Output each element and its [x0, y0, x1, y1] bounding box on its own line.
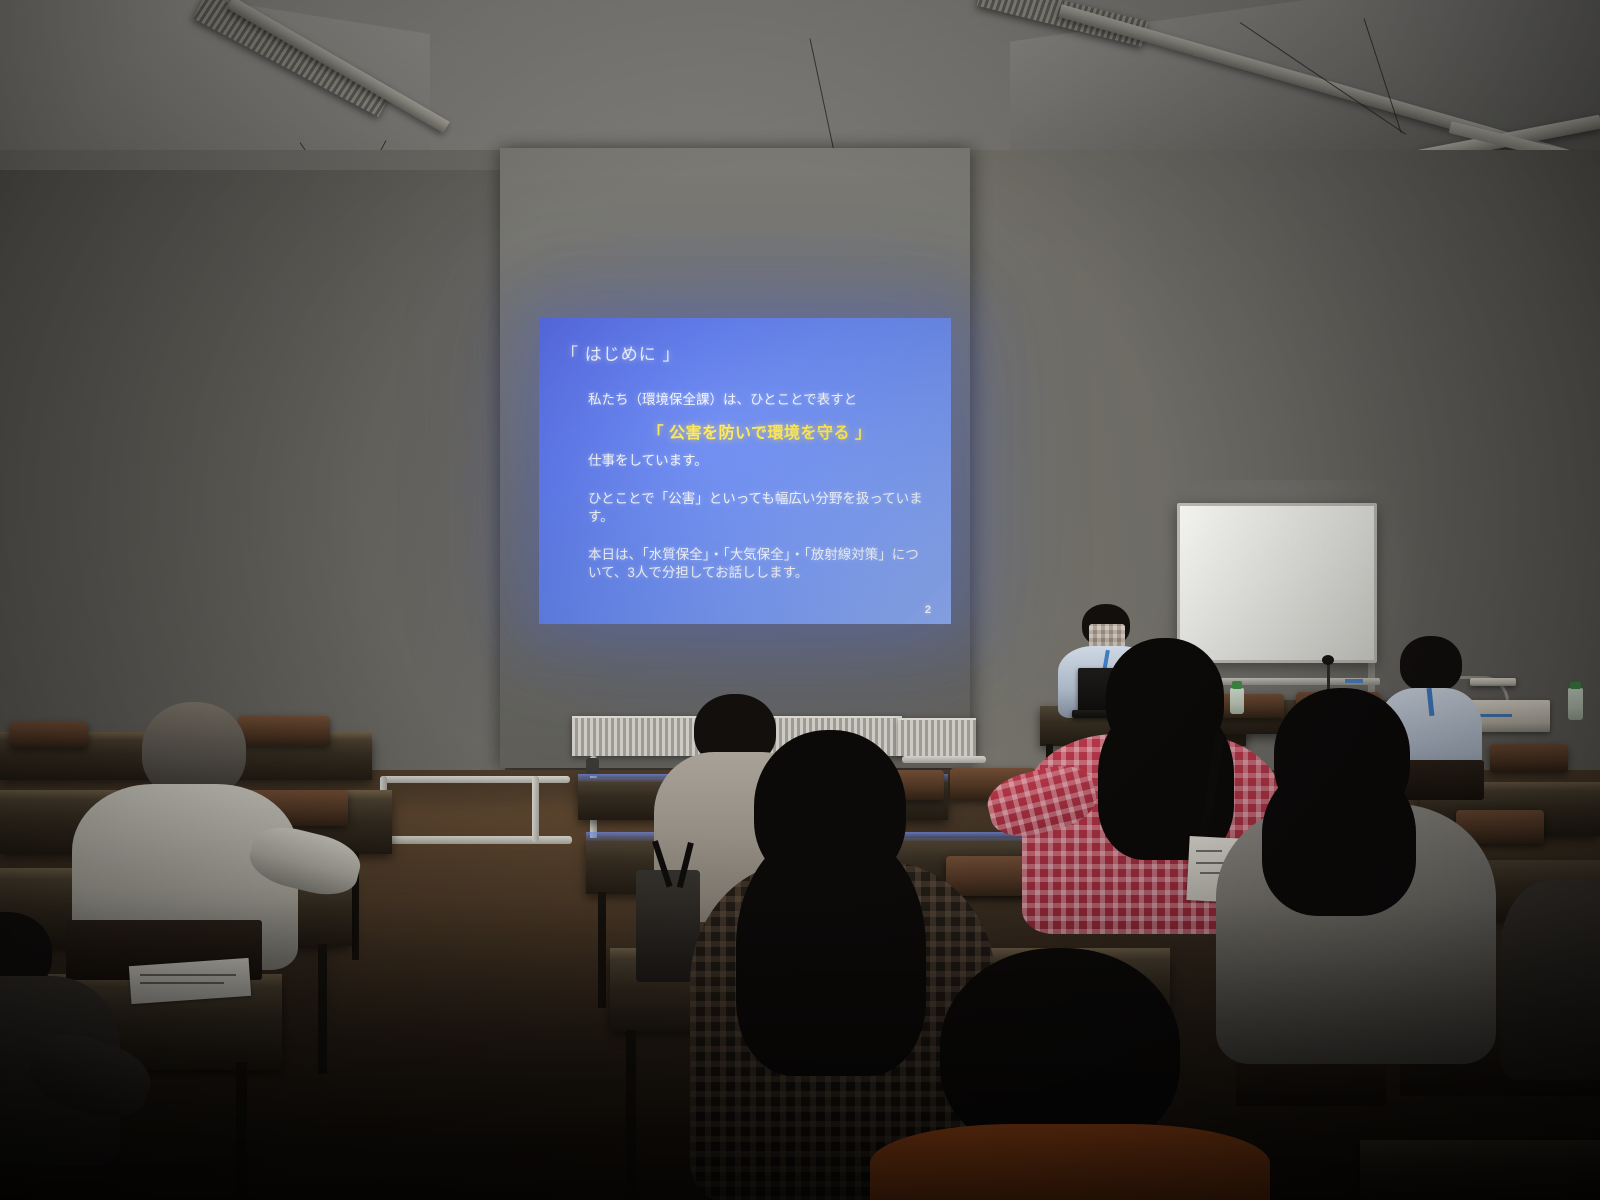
attendee-torso: [1500, 880, 1600, 1080]
left-wall: [0, 170, 505, 770]
desk-leg: [236, 1062, 247, 1200]
beverage-bottle: [1568, 688, 1583, 720]
wall-radiator: [898, 718, 976, 756]
slide-body: 私たち（環境保全課）は、ひとことで表すと 「 公害を防いで環境を守る 」 仕事を…: [561, 391, 931, 582]
desk-leg: [626, 1030, 636, 1200]
classroom-chair: [238, 716, 330, 746]
heating-pipe: [378, 836, 572, 844]
attendee-torso: [870, 1124, 1270, 1200]
slide-page-number: 2: [925, 604, 931, 616]
projection-screen[interactable]: 「 はじめに 」 私たち（環境保全課）は、ひとことで表すと 「 公害を防いで環境…: [539, 318, 951, 624]
handout-text-line: [1196, 850, 1222, 852]
classroom-chair: [1490, 744, 1568, 772]
desk-leg: [318, 944, 327, 1074]
bottle-cap: [1232, 681, 1242, 689]
handout-text-line: [140, 974, 236, 976]
desk-leg: [598, 892, 606, 1008]
whiteboard[interactable]: [1177, 503, 1377, 663]
microphone-head: [1322, 655, 1334, 665]
av-equipment: [1470, 678, 1516, 686]
slide-spacer: [588, 473, 931, 490]
slide-highlight-text: 「 公害を防いで環境を守る 」: [588, 419, 931, 443]
attendee-hair-fall: [1262, 762, 1416, 916]
heating-pipe: [532, 776, 539, 842]
classroom-desk: [1360, 1140, 1600, 1200]
av-equipment-indicator: [1478, 714, 1512, 717]
attendee-hair-fall: [736, 826, 926, 1076]
whiteboard-marker: [1345, 679, 1363, 683]
whiteboard-surface[interactable]: [1180, 506, 1374, 660]
handout-text-line: [140, 982, 224, 984]
heating-pipe: [380, 776, 570, 783]
slide-spacer: [588, 529, 931, 546]
bottle-cap: [1570, 682, 1581, 689]
slide-line-2: 仕事をしています。: [588, 452, 931, 470]
slide-title: 「 はじめに 」: [561, 340, 931, 365]
beverage-bottle: [1230, 688, 1244, 714]
slide-line-3: ひとことで「公害」といっても幅広い分野を扱っています。: [588, 490, 931, 526]
seminar-room-photo: 「 はじめに 」 私たち（環境保全課）は、ひとことで表すと 「 公害を防いで環境…: [0, 0, 1600, 1200]
heating-pipe: [902, 756, 986, 763]
slide-line-4: 本日は、「水質保全」・「大気保全」・「放射線対策」について、3人で分担してお話し…: [588, 546, 931, 582]
staff-head: [1400, 636, 1462, 692]
slide-line-1: 私たち（環境保全課）は、ひとことで表すと: [588, 391, 931, 409]
classroom-chair: [10, 722, 88, 748]
